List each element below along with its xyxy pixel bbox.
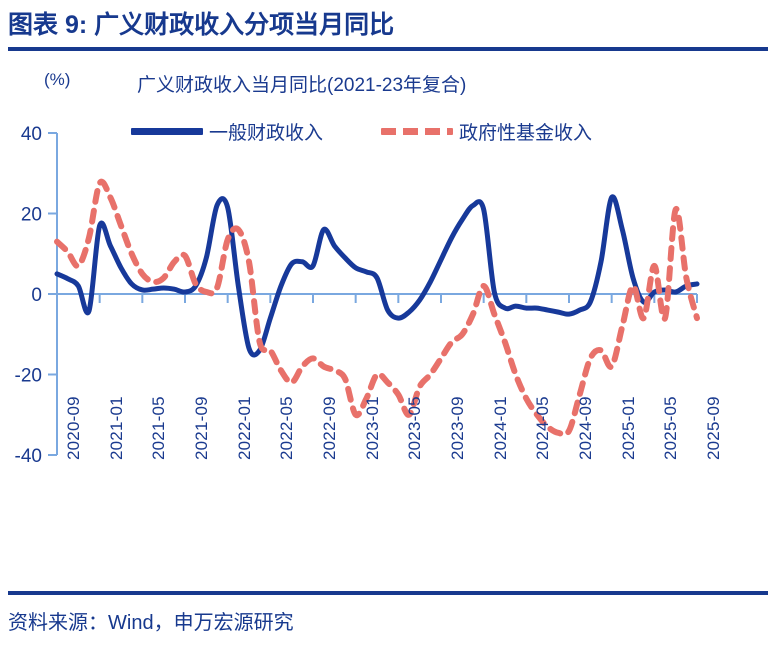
figure-header: 图表 9: 广义财政收入分项当月同比: [8, 8, 768, 52]
y-tick-label: -20: [15, 366, 42, 387]
x-tick-group: [57, 294, 697, 303]
x-tick-labels: 2020-092021-012021-052021-092022-012022-…: [0, 460, 780, 580]
x-tick-label: 2021-01: [107, 396, 127, 460]
x-tick-label: 2022-09: [320, 396, 340, 460]
header-divider: [8, 47, 768, 51]
x-tick-label: 2023-05: [405, 396, 425, 460]
figure-container: 图表 9: 广义财政收入分项当月同比 (%) 广义财政收入当月同比(2021-2…: [0, 0, 780, 647]
source-note: 资料来源：Wind，申万宏源研究: [8, 606, 294, 635]
footer-divider: [8, 591, 768, 595]
x-tick-label: 2020-09: [64, 396, 84, 460]
x-tick-label: 2024-01: [491, 396, 511, 460]
x-tick-label: 2022-05: [277, 396, 297, 460]
y-tick-label: 0: [31, 285, 42, 306]
y-tick-group: [48, 133, 57, 455]
x-tick-label: 2024-05: [533, 396, 553, 460]
x-tick-label: 2023-01: [363, 396, 383, 460]
x-tick-label: 2022-01: [235, 396, 255, 460]
x-tick-label: 2025-05: [661, 396, 681, 460]
x-tick-label: 2024-09: [576, 396, 596, 460]
x-tick-label: 2025-09: [704, 396, 724, 460]
x-tick-label: 2023-09: [448, 396, 468, 460]
x-tick-label: 2021-09: [192, 396, 212, 460]
y-tick-labels: 40200-20-40: [15, 124, 42, 467]
page-title: 图表 9: 广义财政收入分项当月同比: [8, 8, 768, 42]
x-tick-label: 2021-05: [149, 396, 169, 460]
y-tick-label: 40: [21, 124, 42, 145]
y-tick-label: 20: [21, 205, 42, 226]
series-line-general-fiscal-revenue: [57, 197, 697, 355]
chart-area: (%) 广义财政收入当月同比(2021-23年复合) 一般财政收入 政府性基金收…: [0, 52, 780, 582]
x-tick-label: 2025-01: [619, 396, 639, 460]
